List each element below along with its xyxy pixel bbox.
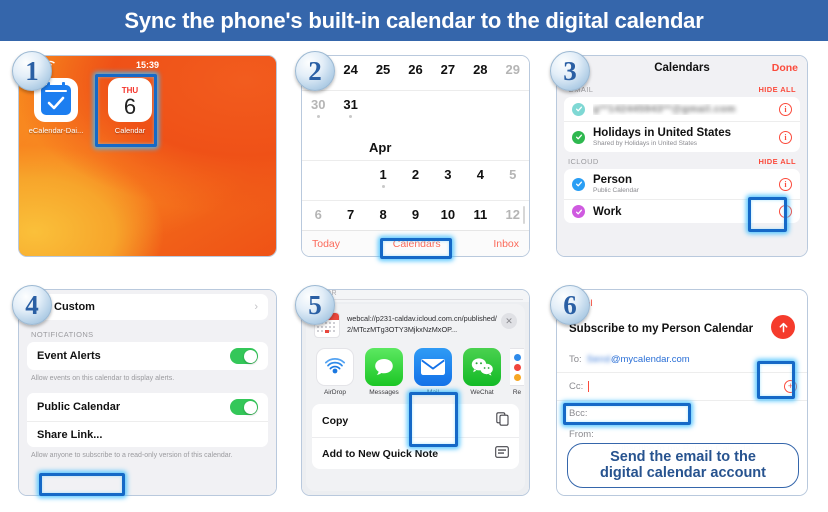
to-value: @mycalendar.com xyxy=(611,354,690,365)
close-icon[interactable]: ✕ xyxy=(501,313,517,329)
step-4-panel: Custom › NOTIFICATIONS Event Alerts Allo… xyxy=(18,289,277,496)
calendar-app-icon[interactable]: THU 6 xyxy=(108,78,152,122)
section-header-gmail: GMAIL HIDE ALL xyxy=(557,80,807,97)
calendars-button[interactable]: Calendars xyxy=(393,238,441,250)
notifications-header: NOTIFICATIONS xyxy=(19,320,276,342)
step-6-panel: Cancel Subscribe to my Person Calendar T… xyxy=(556,289,808,496)
hide-all-button[interactable]: HIDE ALL xyxy=(758,157,796,166)
mail-compose-view: Cancel Subscribe to my Person Calendar T… xyxy=(557,290,807,495)
to-value-blurred: Send xyxy=(587,354,611,365)
step-1-panel: SIM 15:39 xyxy=(18,55,277,257)
calendar-day-cell[interactable]: 10 xyxy=(432,207,464,222)
share-link-note: Allow anyone to subscribe to a read-only… xyxy=(19,447,276,460)
instruction-callout: Send the email to the digital calendar a… xyxy=(567,443,799,488)
step-badge-5: 5 xyxy=(295,285,335,325)
calendar-day-cell[interactable]: 5 xyxy=(497,167,529,182)
mail-icon[interactable] xyxy=(414,348,452,386)
status-time: 15:39 xyxy=(136,60,159,70)
calendar-day-cell[interactable]: 25 xyxy=(367,62,399,77)
calendar-name: Work xyxy=(593,206,779,218)
calendar-row[interactable]: Holidays in United States Shared by Holi… xyxy=(564,121,800,152)
share-action-copy[interactable]: Copy xyxy=(312,404,519,437)
bcc-label: Bcc: xyxy=(569,408,587,419)
info-icon[interactable]: i xyxy=(779,103,792,116)
share-action-label: Add to New Quick Note xyxy=(322,448,438,460)
custom-card: Custom › xyxy=(27,294,268,320)
app-label: Calendar xyxy=(115,126,145,135)
scrollbar[interactable] xyxy=(523,206,525,224)
bcc-field[interactable]: Bcc: xyxy=(557,401,807,426)
share-sheet: webcal://p231-caldav.icloud.com.cn/publi… xyxy=(306,304,525,491)
step-badge-6: 6 xyxy=(550,285,590,325)
done-button[interactable]: Done xyxy=(772,62,798,74)
ios-status-bar: SIM 15:39 xyxy=(19,58,276,72)
calendars-title: Calendars xyxy=(654,62,710,74)
calendar-name: Person xyxy=(593,174,779,186)
section-label: ICLOUD xyxy=(568,157,599,166)
share-action-label: Copy xyxy=(322,415,348,427)
share-target-label: AirDrop xyxy=(324,389,346,396)
step-3-panel: Calendars Done GMAIL HIDE ALL g**1424459… xyxy=(556,55,808,257)
calendar-week-row: 1 2 3 4 5 xyxy=(302,160,529,200)
calendar-week-row: 30 31 xyxy=(302,90,529,134)
info-icon[interactable]: i xyxy=(779,131,792,144)
checkbox-icon[interactable] xyxy=(572,103,585,116)
share-link-row[interactable]: Share Link... xyxy=(27,421,268,447)
calendar-day-cell[interactable]: 3 xyxy=(432,167,464,182)
checkbox-icon[interactable] xyxy=(572,131,585,144)
calendars-navbar: Calendars Done xyxy=(557,56,807,80)
calendar-week-row: 6 7 8 9 10 11 12 xyxy=(302,200,529,230)
cc-label: Cc: xyxy=(569,381,583,392)
share-preview: webcal://p231-caldav.icloud.com.cn/publi… xyxy=(306,304,525,344)
page-title-bar: Sync the phone's built-in calendar to th… xyxy=(0,0,828,41)
share-link-label: Share Link... xyxy=(37,429,258,441)
share-target-more[interactable]: Re xyxy=(510,348,524,396)
behind-color-header: COLOR xyxy=(302,290,529,302)
calendar-group-icloud: Person Public Calendar i Work i xyxy=(564,169,800,223)
app-calendar[interactable]: THU 6 Calendar xyxy=(101,78,159,135)
share-app-row: AirDrop Messages xyxy=(306,344,525,404)
section-header-icloud: ICLOUD HIDE ALL xyxy=(557,152,807,169)
calendars-sheet: Calendars Done GMAIL HIDE ALL g**1424459… xyxy=(557,56,807,256)
share-sheet-view: COLOR webcal://p231-caldav.icloud.com.cn… xyxy=(302,290,529,495)
app-label: eCalendar-Dai... xyxy=(29,126,84,135)
quick-note-icon xyxy=(495,446,509,461)
calendar-day-cell[interactable]: 6 xyxy=(302,207,334,222)
public-calendar-label: Public Calendar xyxy=(37,401,230,413)
calendar-day-cell[interactable]: 28 xyxy=(464,62,496,77)
calendar-row[interactable]: g**142445943**@gmail.com i xyxy=(564,97,800,121)
calendar-row-work[interactable]: Work i xyxy=(564,199,800,223)
calendar-week-row: 23 24 25 26 27 28 29 xyxy=(302,56,529,90)
calendar-toolbar: Today Calendars Inbox xyxy=(302,230,529,256)
step-badge-2: 2 xyxy=(295,51,335,91)
share-target-label: Mail xyxy=(427,389,439,396)
calendar-icon-day: 6 xyxy=(124,96,136,118)
calendar-day-cell[interactable]: 11 xyxy=(464,207,496,222)
share-target-label: WeChat xyxy=(470,389,493,396)
compose-title: Subscribe to my Person Calendar xyxy=(557,314,771,335)
calendar-day-cell[interactable]: 26 xyxy=(399,62,431,77)
from-field[interactable]: From: xyxy=(557,426,807,443)
hide-all-button[interactable]: HIDE ALL xyxy=(758,85,796,94)
share-action-quick-note[interactable]: Add to New Quick Note xyxy=(312,437,519,469)
add-contact-icon[interactable]: + xyxy=(784,380,797,393)
share-url: webcal://p231-caldav.icloud.com.cn/publi… xyxy=(347,312,501,336)
calendar-subtitle: Public Calendar xyxy=(593,187,779,194)
public-calendar-card: Public Calendar Share Link... xyxy=(27,393,268,447)
calendar-day-cell[interactable]: 8 xyxy=(367,207,399,222)
cancel-button[interactable]: Cancel xyxy=(557,290,807,309)
calendar-subtitle: Shared by Holidays in United States xyxy=(593,140,779,147)
event-alerts-card: Event Alerts xyxy=(27,342,268,370)
event-alerts-note: Allow events on this calendar to display… xyxy=(19,370,276,383)
screenshot-root: Sync the phone's built-in calendar to th… xyxy=(0,0,828,512)
calendar-group-gmail: g**142445943**@gmail.com i Holidays in U… xyxy=(564,97,800,152)
airdrop-icon[interactable] xyxy=(316,348,354,386)
checkbox-icon[interactable] xyxy=(572,178,585,191)
copy-icon xyxy=(496,412,509,429)
step-2-panel: 23 24 25 26 27 28 29 30 31 xyxy=(301,55,530,257)
text-caret xyxy=(588,381,589,392)
page-title: Sync the phone's built-in calendar to th… xyxy=(124,8,703,34)
step-5-panel: COLOR webcal://p231-caldav.icloud.com.cn… xyxy=(301,289,530,496)
event-alerts-row[interactable]: Event Alerts xyxy=(27,342,268,370)
calendar-week-row: Apr xyxy=(302,134,529,160)
send-arrow-icon[interactable] xyxy=(771,315,795,339)
checkbox-icon[interactable] xyxy=(572,205,585,218)
callout-line-1: Send the email to the xyxy=(572,449,794,465)
inbox-button[interactable]: Inbox xyxy=(493,238,519,250)
calendar-settings-view: Custom › NOTIFICATIONS Event Alerts Allo… xyxy=(19,290,276,495)
calendar-day-cell[interactable]: 7 xyxy=(334,207,366,222)
calendar-day-cell[interactable]: 9 xyxy=(399,207,431,222)
calendar-day-cell[interactable]: 1 xyxy=(367,167,399,188)
info-icon[interactable]: i xyxy=(779,205,792,218)
calendar-name-blurred: g**142445943**@gmail.com xyxy=(593,104,736,115)
calendar-month-label: Apr xyxy=(366,140,529,155)
calendar-day-cell[interactable]: 24 xyxy=(334,62,366,77)
event-alerts-toggle[interactable] xyxy=(230,348,258,364)
today-button[interactable]: Today xyxy=(312,238,340,250)
calendar-day-cell[interactable]: 29 xyxy=(497,62,529,77)
calendar-row-person[interactable]: Person Public Calendar i xyxy=(564,169,800,199)
calendar-day-cell[interactable]: 30 xyxy=(302,97,334,118)
public-calendar-toggle[interactable] xyxy=(230,399,258,415)
event-alerts-label: Event Alerts xyxy=(37,350,230,362)
calendar-month-view[interactable]: 23 24 25 26 27 28 29 30 31 xyxy=(302,56,529,256)
to-label: To: xyxy=(569,354,582,365)
calendar-day-cell[interactable]: 31 xyxy=(334,97,366,118)
public-calendar-row[interactable]: Public Calendar xyxy=(27,393,268,421)
calendar-day-cell[interactable]: 2 xyxy=(399,167,431,182)
step-badge-1: 1 xyxy=(12,51,52,91)
step-badge-3: 3 xyxy=(550,51,590,91)
home-screen-app-grid: eCalendar-Dai... THU 6 Calendar xyxy=(27,78,159,135)
step-badge-4: 4 xyxy=(12,285,52,325)
wechat-icon[interactable] xyxy=(463,348,501,386)
messages-icon[interactable] xyxy=(365,348,403,386)
share-target-mail[interactable]: Mail xyxy=(412,348,454,396)
steps-grid: SIM 15:39 xyxy=(0,41,828,512)
share-target-messages[interactable]: Messages xyxy=(363,348,405,396)
share-target-label: Re xyxy=(513,389,521,396)
calendar-day-cell[interactable]: 27 xyxy=(432,62,464,77)
custom-row[interactable]: Custom › xyxy=(27,294,268,320)
more-apps-icon[interactable] xyxy=(510,348,524,386)
from-label: From: xyxy=(569,429,594,440)
chevron-right-icon: › xyxy=(254,301,258,313)
custom-label: Custom xyxy=(54,301,254,313)
calendar-name: Holidays in United States xyxy=(593,127,779,139)
share-target-label: Messages xyxy=(369,389,399,396)
to-field[interactable]: To: Send@mycalendar.com xyxy=(557,347,807,373)
info-icon[interactable]: i xyxy=(779,178,792,191)
share-action-list: Copy Add to New Quick Note xyxy=(312,404,519,469)
callout-line-2: digital calendar account xyxy=(572,465,794,481)
cc-field[interactable]: Cc: + xyxy=(557,373,807,401)
calendar-day-cell[interactable]: 4 xyxy=(464,167,496,182)
share-target-airdrop[interactable]: AirDrop xyxy=(314,348,356,396)
share-target-wechat[interactable]: WeChat xyxy=(461,348,503,396)
